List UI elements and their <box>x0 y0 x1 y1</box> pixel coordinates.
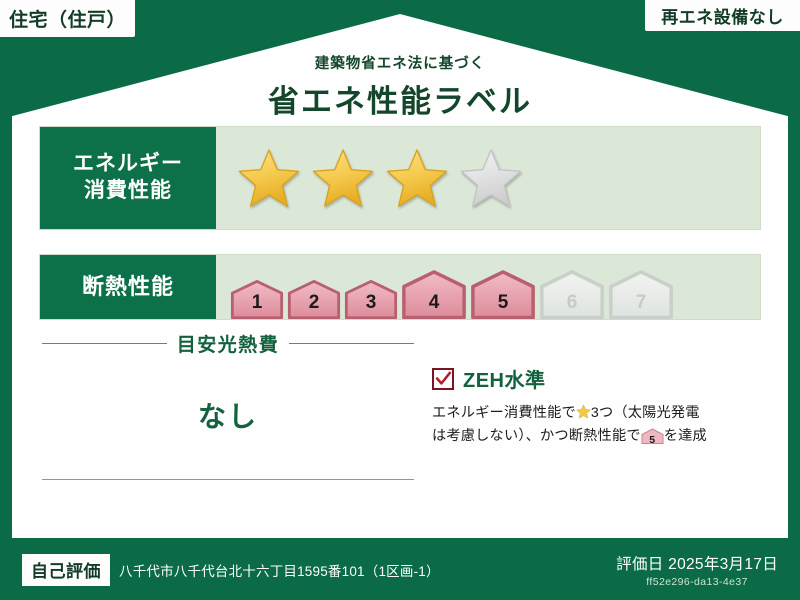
insulation-grade-value: 1 <box>252 292 263 319</box>
insulation-grade-value: 4 <box>429 292 440 319</box>
house-grade-icon-value: 5 <box>649 434 655 446</box>
utility-cost-heading-row: 目安光熱費 <box>42 330 414 357</box>
insulation-grade-badge: 2 <box>287 279 341 319</box>
building-type-badge: 住宅（住戸） <box>0 0 135 37</box>
property-address: 八千代市八千代台北十六丁目1595番101（1区画-1） <box>119 560 440 580</box>
insulation-grade-scale: 1234567 <box>216 255 760 319</box>
star-icon-empty <box>460 148 522 208</box>
utility-cost-section: 目安光熱費 なし <box>42 330 414 480</box>
insulation-grade-value: 7 <box>636 292 647 319</box>
insulation-grade-value: 3 <box>366 292 377 319</box>
insulation-performance-label-box: 断熱性能 <box>40 255 216 319</box>
insulation-performance-row: 断熱性能 1234567 <box>39 254 761 320</box>
footer-right: 評価日 2025年3月17日 ff52e296-da13-4e37 <box>616 552 778 588</box>
rule-right <box>289 343 414 344</box>
footer-left: 自己評価 八千代市八千代台北十六丁目1595番101（1区画-1） <box>22 554 440 586</box>
insulation-grade-badge: 4 <box>401 269 467 319</box>
insulation-grade-value: 5 <box>498 292 509 319</box>
energy-performance-label: 住宅（住戸） 再エネ設備なし 建築物省エネ法に基づく 省エネ性能ラベル エネルギ… <box>0 0 800 600</box>
zeh-title: ZEH水準 <box>463 364 546 393</box>
zeh-desc-part1: エネルギー消費性能で <box>432 405 576 421</box>
title-block: 建築物省エネ法に基づく 省エネ性能ラベル <box>0 52 800 121</box>
energy-performance-label-box: エネルギー 消費性能 <box>40 127 216 229</box>
zeh-desc-part3: を達成 <box>664 428 707 444</box>
star-icon-inline <box>576 404 591 419</box>
utility-cost-heading: 目安光熱費 <box>177 330 280 357</box>
evaluation-date: 評価日 2025年3月17日 <box>616 552 778 574</box>
energy-star-rating <box>216 127 760 229</box>
energy-label-line1: エネルギー <box>73 151 183 178</box>
insulation-grade-badge: 3 <box>344 279 398 319</box>
house-grade-icon-inline: 5 <box>641 428 664 444</box>
label-subtitle: 建築物省エネ法に基づく <box>0 52 800 73</box>
zeh-desc-part2: は考慮しない）、かつ断熱性能で <box>432 428 641 444</box>
energy-performance-row: エネルギー 消費性能 <box>39 126 761 230</box>
zeh-checkbox[interactable] <box>432 368 454 390</box>
self-evaluation-badge: 自己評価 <box>22 554 110 586</box>
document-id: ff52e296-da13-4e37 <box>616 576 778 588</box>
insulation-grade-badge: 1 <box>230 279 284 319</box>
insulation-label-text: 断熱性能 <box>82 273 174 301</box>
insulation-grade-badge: 6 <box>539 269 605 319</box>
star-icon-filled <box>312 148 374 208</box>
insulation-grade-badge: 5 <box>470 269 536 319</box>
page-title: 省エネ性能ラベル <box>0 76 800 121</box>
check-icon <box>435 370 452 387</box>
utility-cost-bottom-rule <box>42 479 414 480</box>
insulation-grade-value: 2 <box>309 292 320 319</box>
star-icon-filled <box>386 148 448 208</box>
star-icon-filled <box>238 148 300 208</box>
insulation-grade-value: 6 <box>567 292 578 319</box>
rule-left <box>42 343 167 344</box>
insulation-grade-badge: 7 <box>608 269 674 319</box>
zeh-title-row: ZEH水準 <box>432 364 762 393</box>
utility-cost-value: なし <box>42 395 414 435</box>
zeh-section: ZEH水準 エネルギー消費性能で 3つ（太陽光発電 は考慮しない）、かつ断熱性能… <box>432 364 762 448</box>
zeh-description: エネルギー消費性能で 3つ（太陽光発電 は考慮しない）、かつ断熱性能で 5 を達… <box>432 402 762 448</box>
energy-label-line2: 消費性能 <box>84 178 172 205</box>
zeh-desc-star-count: 3つ（太陽光発電 <box>591 405 700 421</box>
renewable-equipment-badge: 再エネ設備なし <box>645 0 800 31</box>
